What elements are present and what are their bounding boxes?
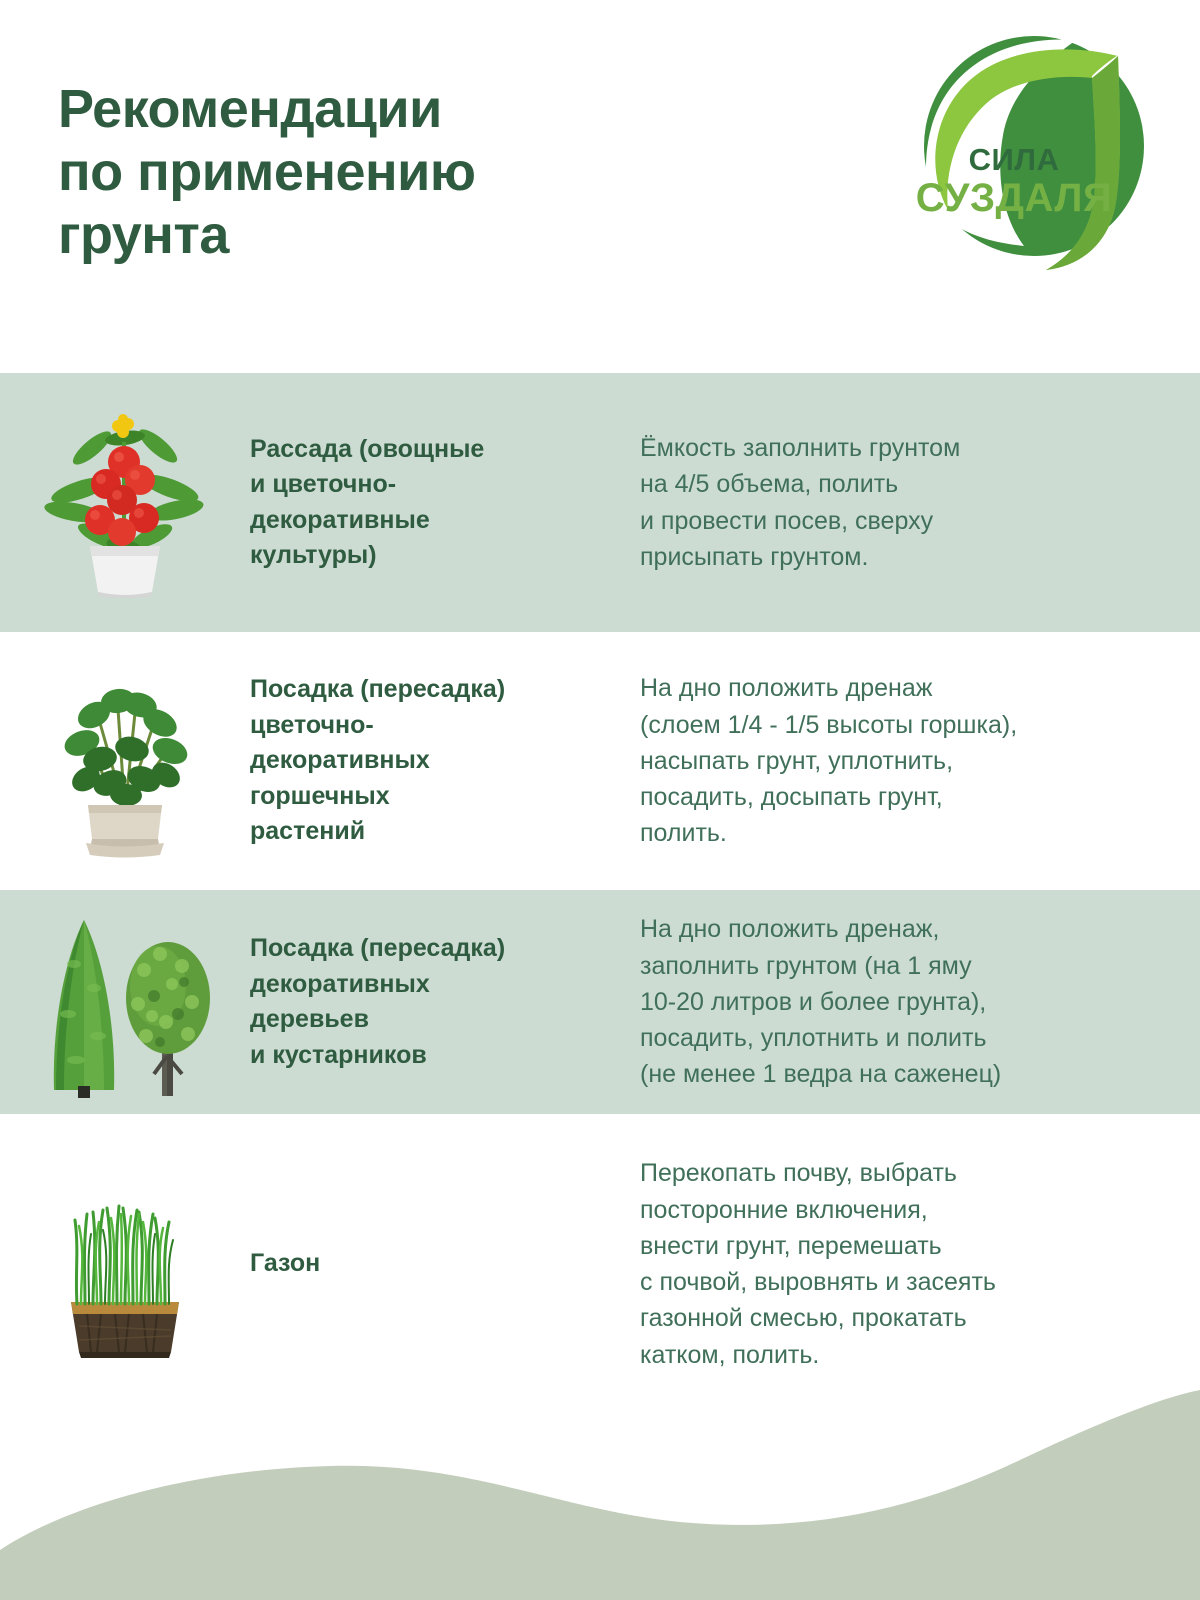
row-image-tomato-seedling-in-pot <box>0 373 250 632</box>
table-row: Рассада (овощные и цветочно- декоративны… <box>0 373 1200 632</box>
row-title: Посадка (пересадка) декоративных деревье… <box>250 931 640 1073</box>
bottom-wave-decoration <box>0 1370 1200 1600</box>
row-title: Газон <box>250 1246 640 1282</box>
row-description: Перекопать почву, выбрать посторонние вк… <box>640 1155 1200 1373</box>
row-description: Ёмкость заполнить грунтом на 4/5 объема,… <box>640 430 1200 575</box>
row-description: На дно положить дренаж, заполнить грунто… <box>640 911 1200 1092</box>
row-title: Рассада (овощные и цветочно- декоративны… <box>250 432 640 574</box>
row-image-potted-houseplant <box>0 632 250 890</box>
table-row: Газон Перекопать почву, выбрать посторон… <box>0 1114 1200 1414</box>
brand-logo: СИЛА СУЗДАЛЯ <box>896 18 1162 284</box>
infographic-page: Рекомендации по применению грунта СИЛА С… <box>0 0 1200 1600</box>
leaf-circle-icon <box>896 18 1162 284</box>
row-description: На дно положить дренаж (слоем 1/4 - 1/5 … <box>640 670 1200 851</box>
row-image-conifer-and-shrub-trees <box>0 890 250 1114</box>
row-image-lawn-turf-block <box>0 1114 250 1414</box>
table-row: Посадка (пересадка) цветочно- декоративн… <box>0 632 1200 890</box>
row-title: Посадка (пересадка) цветочно- декоративн… <box>250 672 640 850</box>
page-title: Рекомендации по применению грунта <box>58 78 698 268</box>
header: Рекомендации по применению грунта СИЛА С… <box>0 0 1200 373</box>
table-row: Посадка (пересадка) декоративных деревье… <box>0 890 1200 1114</box>
